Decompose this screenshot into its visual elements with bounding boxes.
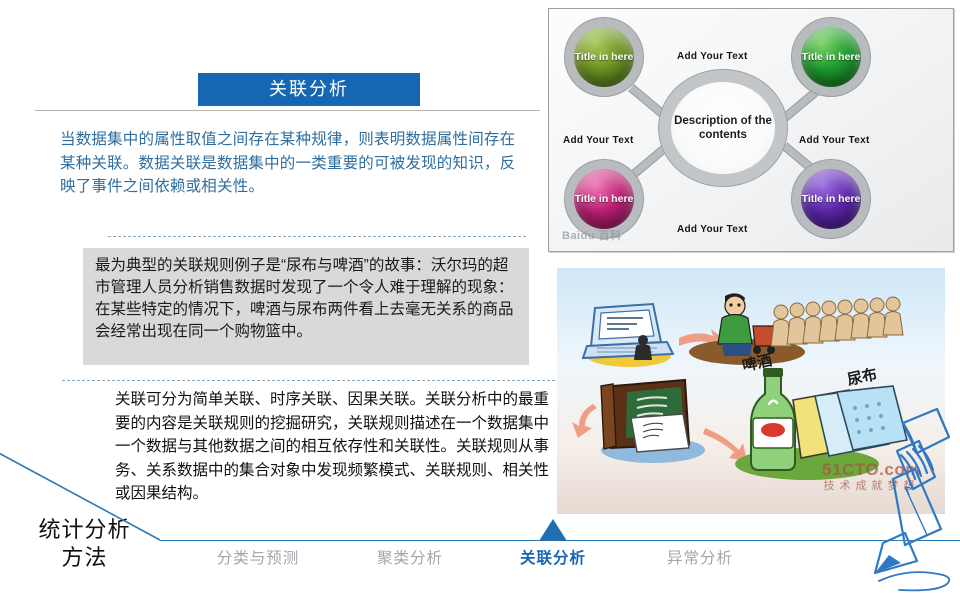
nav-item-anomaly[interactable]: 异常分析 <box>620 546 780 568</box>
spoke-top-right <box>781 84 824 122</box>
callout-paragraph: 最为典型的关联规则例子是“尿布与啤酒”的故事：沃尔玛的超市管理人员分析销售数据时… <box>83 248 529 343</box>
diagram-node-top-left-label: Title in here <box>575 51 634 63</box>
nav-active-marker-triangle <box>539 519 567 541</box>
baidu-baike-watermark: Baidu 百科 <box>562 227 622 243</box>
definition-paragraph: 当数据集中的属性取值之间存在某种规律，则表明数据属性间存在某种关联。数据关联是数… <box>60 128 530 199</box>
diagram-caption-right: Add Your Text <box>799 135 870 146</box>
spoke-bottom-left <box>628 142 671 180</box>
nav-item-association[interactable]: 关联分析 <box>473 546 633 568</box>
nav-item-clustering[interactable]: 聚类分析 <box>330 546 490 568</box>
diagram-node-top-left: Title in here <box>574 27 634 87</box>
brand-line-2: 方法 <box>12 544 157 572</box>
dashed-divider-bottom <box>62 380 555 381</box>
diagram-hub: Description of the contents <box>671 82 775 174</box>
nav-diagonal-connector <box>0 459 165 541</box>
diagram-caption-bottom: Add Your Text <box>677 224 748 235</box>
slide-canvas: 关联分析 当数据集中的属性取值之间存在某种规律，则表明数据属性间存在某种关联。数… <box>0 0 960 600</box>
detail-paragraph: 关联可分为简单关联、时序关联、因果关联。关联分析中的最重要的内容是关联规则的挖掘… <box>115 388 555 506</box>
pen-sketch-decoration <box>845 395 960 600</box>
circle-diagram-image: Title in here Title in here Title in her… <box>548 8 954 252</box>
diagram-node-top-right: Title in here <box>801 27 861 87</box>
diagram-node-bottom-left-label: Title in here <box>575 193 634 205</box>
title-divider-rule <box>35 110 540 111</box>
spoke-top-left <box>628 84 671 122</box>
diagram-node-bottom-left: Title in here <box>574 169 634 229</box>
diagram-node-bottom-right: Title in here <box>801 169 861 229</box>
diagram-caption-left: Add Your Text <box>563 135 634 146</box>
section-title-chip: 关联分析 <box>198 73 420 106</box>
callout-box: 最为典型的关联规则例子是“尿布与啤酒”的故事：沃尔玛的超市管理人员分析销售数据时… <box>83 248 529 365</box>
dashed-divider-top <box>108 236 526 237</box>
diagram-caption-top: Add Your Text <box>677 51 748 62</box>
diagram-node-top-right-label: Title in here <box>802 51 861 63</box>
diagram-node-bottom-right-label: Title in here <box>802 193 861 205</box>
circle-diagram-inner: Title in here Title in here Title in her… <box>549 9 953 251</box>
diagram-hub-label: Description of the contents <box>671 114 775 142</box>
nav-item-classification[interactable]: 分类与预测 <box>178 546 338 568</box>
